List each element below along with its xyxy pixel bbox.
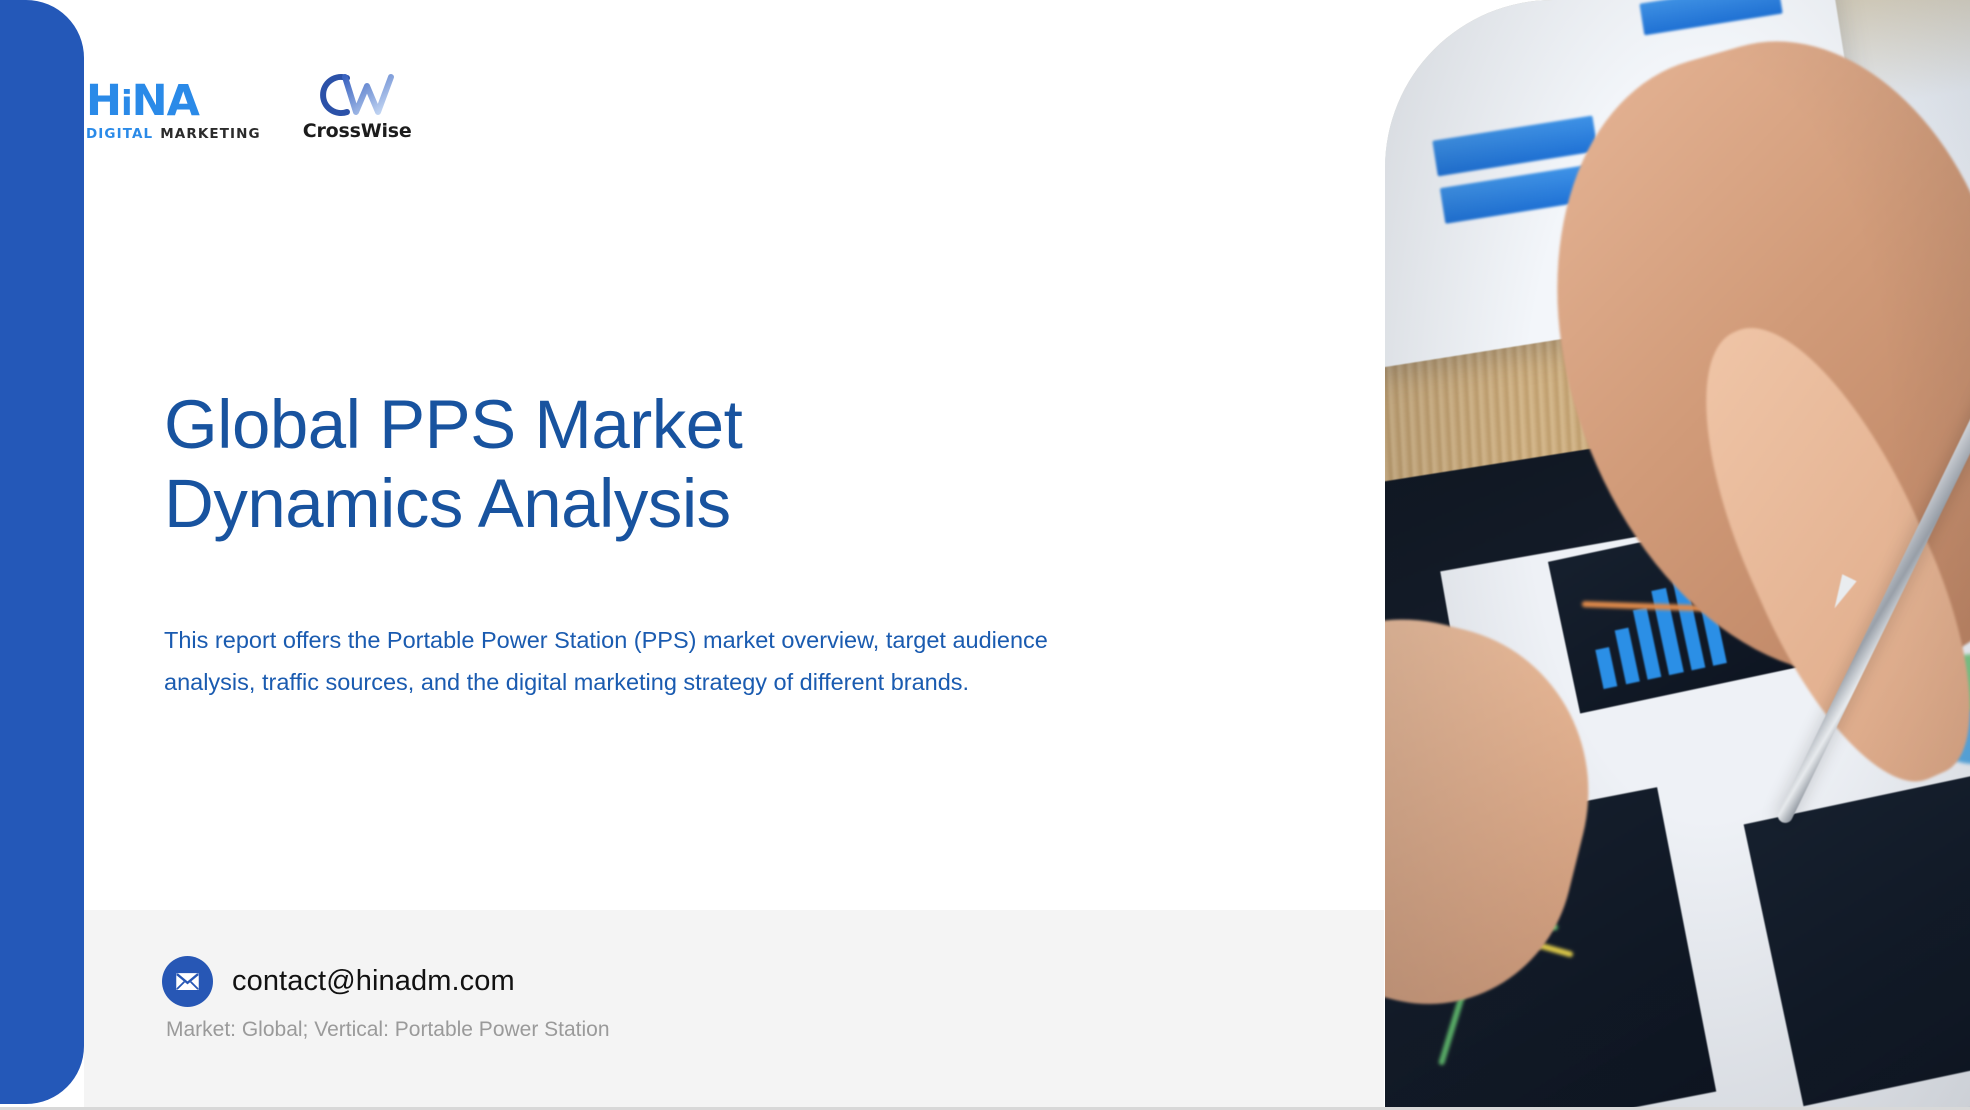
hina-letter-a: A [167,80,199,123]
hina-tagline-digital: DIGITAL [86,126,153,142]
hina-tagline-marketing: MARKETING [160,126,260,142]
hina-wordmark: HiNA [86,80,261,123]
photo-vignette [1385,0,1970,1107]
market-meta: Market: Global; Vertical: Portable Power… [166,1018,610,1042]
hero-photo [1385,0,1970,1107]
hina-letter-i: i [121,87,132,121]
contact-email[interactable]: contact@hinadm.com [232,965,515,998]
left-accent-bar [0,0,84,1104]
crosswise-monogram-icon [311,72,403,118]
title-line-2: Dynamics Analysis [164,465,731,542]
logo-row: HiNA DIGITAL MARKETING CrossWise [86,72,412,142]
envelope-icon [162,956,213,1007]
hero-photo-inner [1385,0,1970,1107]
hina-tagline: DIGITAL MARKETING [86,126,261,142]
page-title: Global PPS Market Dynamics Analysis [164,386,1164,543]
contact-row[interactable]: contact@hinadm.com [162,956,515,1007]
hina-logo[interactable]: HiNA DIGITAL MARKETING [86,80,261,142]
title-line-1: Global PPS Market [164,386,742,463]
page-subtitle: This report offers the Portable Power St… [164,620,1114,703]
crosswise-name: CrossWise [303,120,412,142]
crosswise-logo[interactable]: CrossWise [303,72,412,142]
footer-band [84,910,1384,1107]
title-slide: HiNA DIGITAL MARKETING CrossWise [0,0,1970,1110]
hina-letter-h: H [86,80,121,123]
hina-letter-n: N [132,80,167,123]
